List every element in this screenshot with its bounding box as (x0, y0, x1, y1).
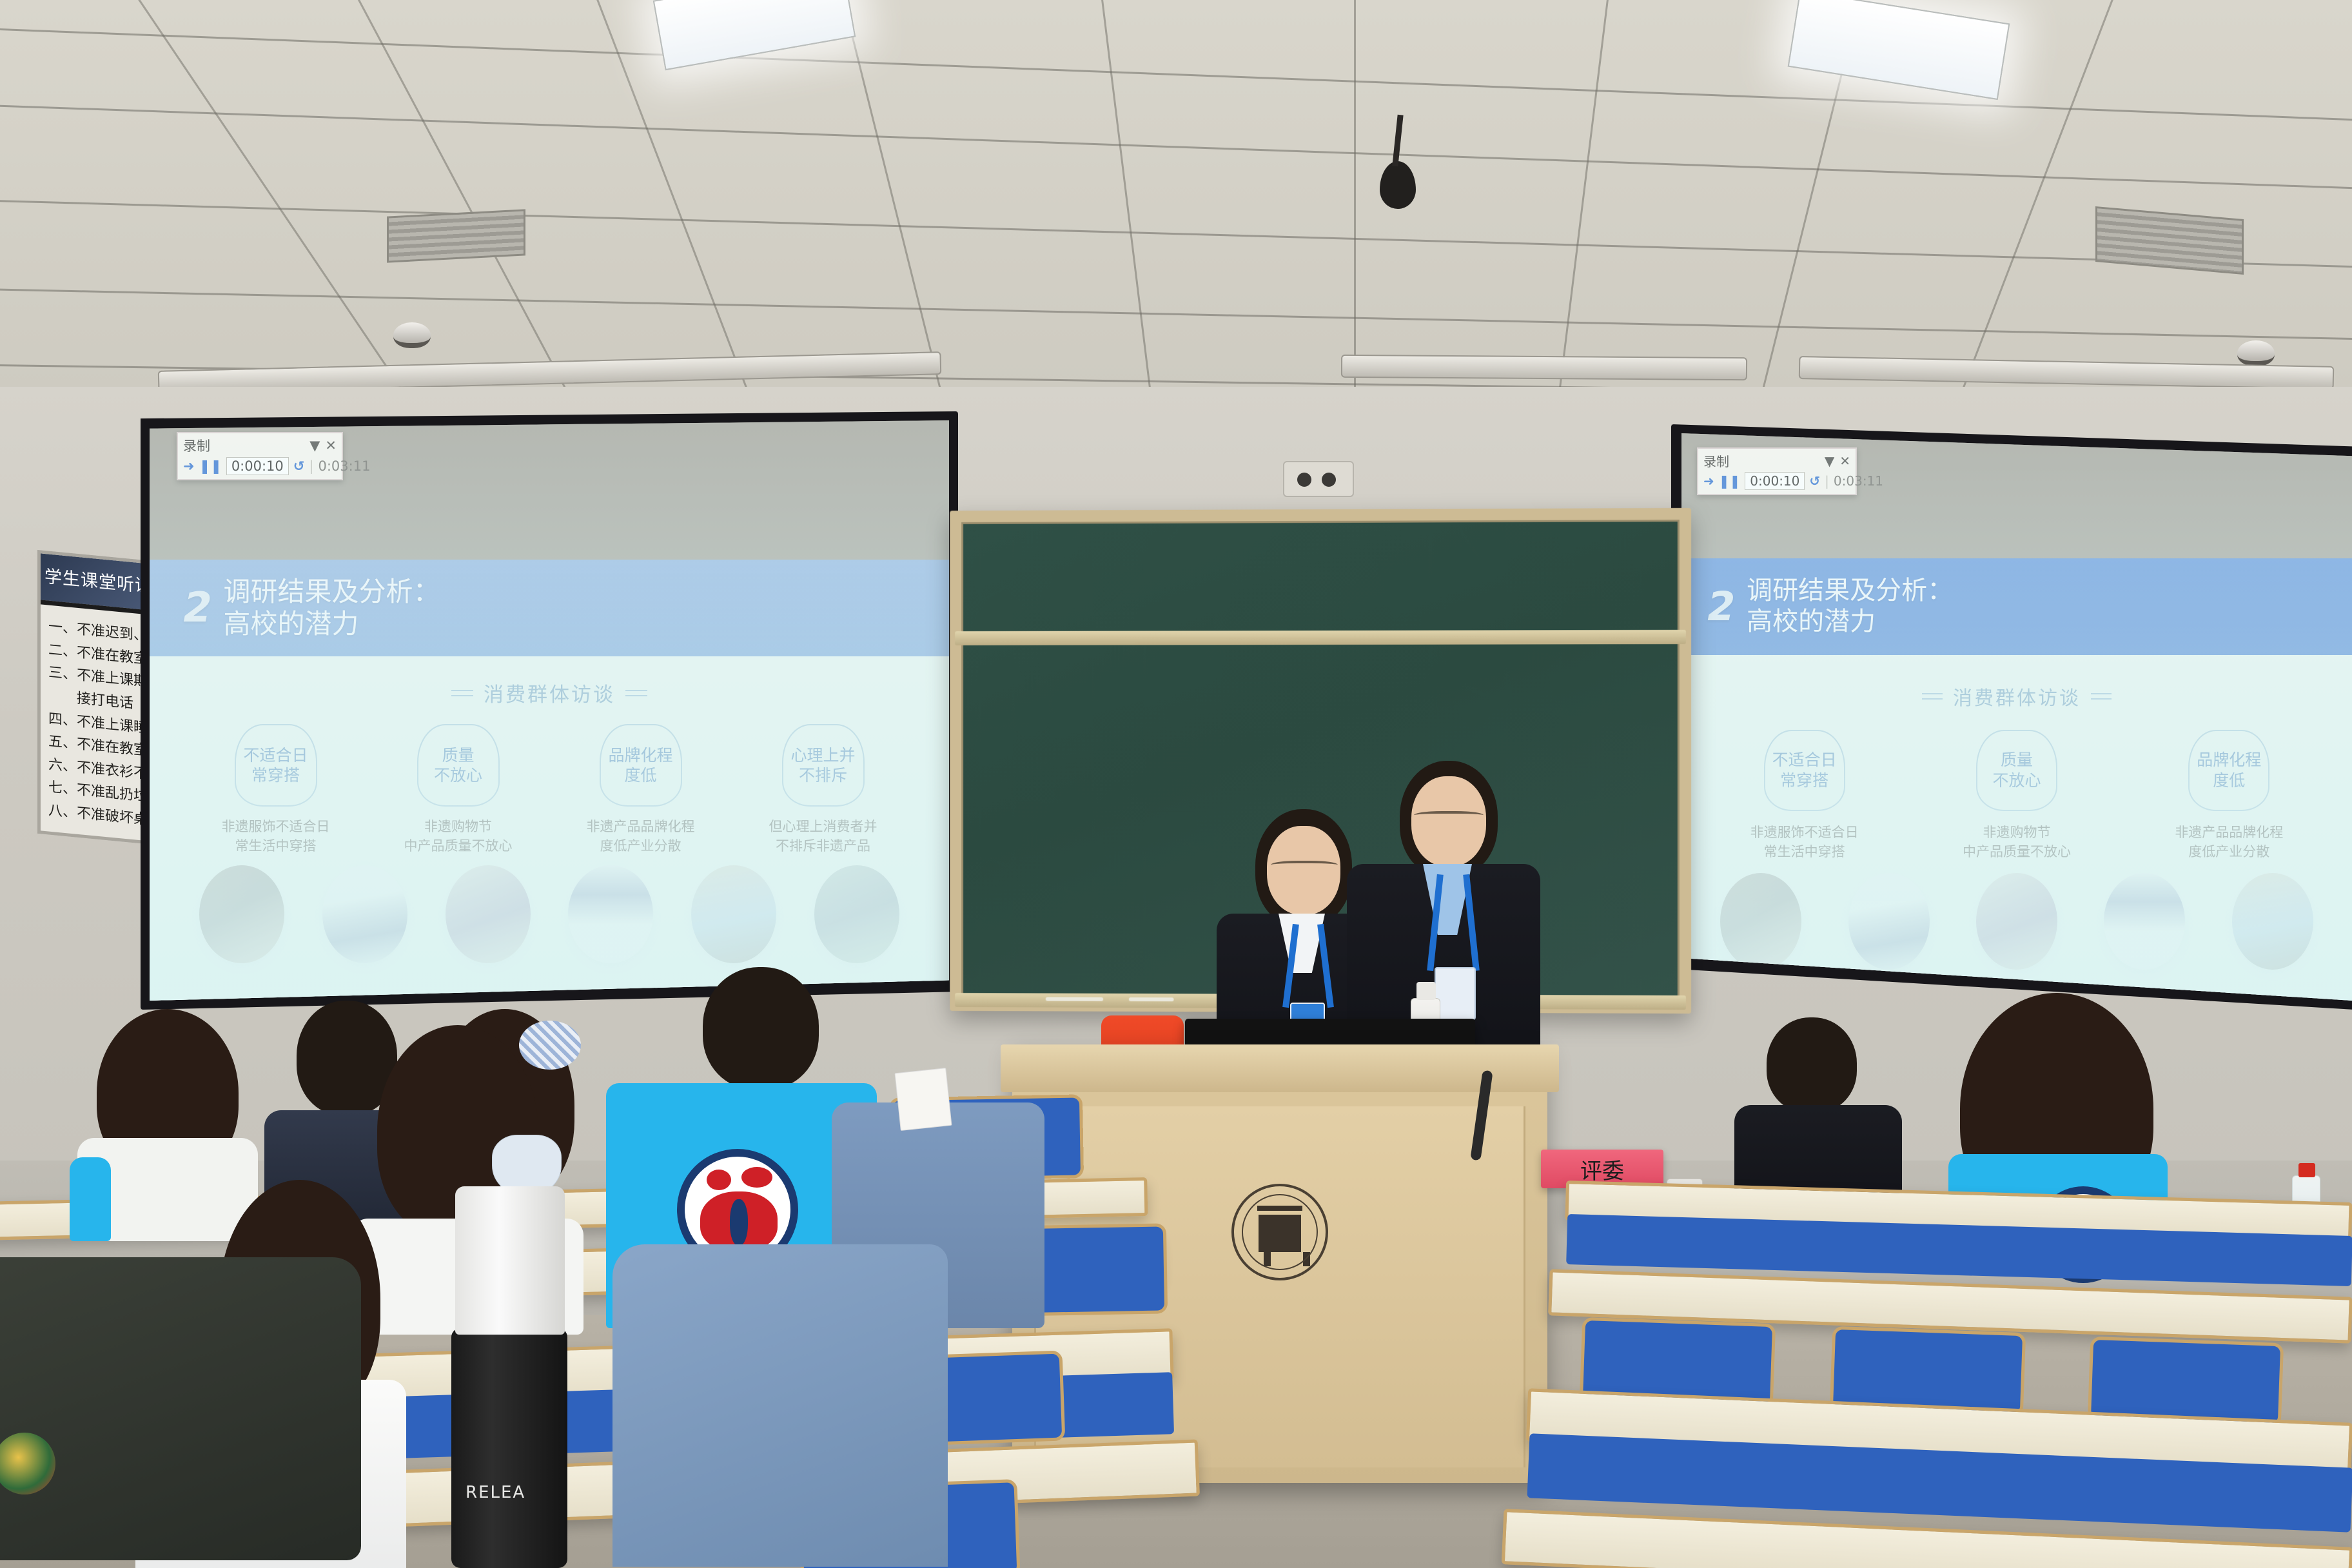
diamond-label: 品牌化程 度低 (608, 745, 672, 786)
head (1767, 1017, 1857, 1113)
ceiling (0, 0, 2352, 426)
diamond-card: 品牌化程 度低 非遗产品品牌化程 度低产业分散 (570, 724, 712, 856)
toolbar-divider: | (1825, 473, 1829, 489)
ding-vessel-icon (1259, 1215, 1301, 1252)
ceiling-light-right (1788, 0, 2010, 100)
diamond-shape: 品牌化程 度低 (600, 724, 682, 807)
slide-title-line-1: 调研结果及分析： (1747, 576, 1953, 605)
photo-row (150, 865, 949, 963)
slide-title-band: 2 调研结果及分析： 高校的潜力 (150, 560, 949, 656)
diamond-label: 不适合日 常穿搭 (243, 745, 308, 786)
diamond-subtext-line-2: 度低产业分散 (2188, 844, 2269, 859)
wall-speaker-plate (1283, 461, 1354, 497)
diamond-label-line-1: 质量 (442, 746, 474, 765)
close-icon[interactable]: ✕ (1839, 453, 1850, 469)
diamond-card: 不适合日 常穿搭 非遗服饰不适合日 常生活中穿搭 (1737, 730, 1872, 862)
decorative-dash-right (2091, 693, 2112, 700)
face (1411, 776, 1486, 867)
recording-toolbar-title: 录制 (1703, 451, 1729, 470)
slide-photo (446, 865, 531, 963)
diamond-label-line-1: 心理上并 (790, 746, 855, 765)
diamond-subtext-line-1: 非遗购物节 (424, 819, 492, 834)
diamond-shape: 心理上并 不排斥 (782, 724, 865, 807)
projector-screen-left: 录制 ▼ ✕ ➜ ❚❚ 0:00:10 ↺ | 0:03:11 2 调研结果及分… (150, 420, 949, 1001)
dome-camera-right (2237, 340, 2275, 366)
recording-total-time: 0:03:11 (318, 458, 370, 474)
screen-mount-rail-mid (1341, 355, 1747, 380)
chalk-piece[interactable] (1129, 997, 1174, 1001)
pause-icon[interactable]: ❚❚ (1719, 473, 1741, 489)
diamond-shape: 品牌化程 度低 (2188, 730, 2269, 811)
diamond-shape: 不适合日 常穿搭 (235, 724, 317, 807)
slide-right: 2 调研结果及分析： 高校的潜力 消费群体访谈 不适合日 (1681, 558, 2352, 1001)
diamond-card: 品牌化程 度低 非遗产品品牌化程 度低产业分散 (2161, 730, 2297, 862)
recording-toolbar-right[interactable]: 录制 ▼ ✕ ➜ ❚❚ 0:00:10 ↺ | 0:03:11 (1697, 447, 1857, 495)
diamond-shape: 质量 不放心 (1976, 730, 2057, 811)
diamond-label-line-1: 不适合日 (243, 746, 308, 765)
slide-photo (322, 865, 407, 963)
diamond-label: 不适合日 常穿搭 (1772, 750, 1837, 790)
thermos-bottle[interactable] (451, 1328, 567, 1568)
projector-screen-right: 录制 ▼ ✕ ➜ ❚❚ 0:00:10 ↺ | 0:03:11 2 调研结果及分… (1681, 433, 2352, 1001)
slide-title-line-2: 高校的潜力 (1747, 607, 1876, 636)
student-row3-front-right (612, 1244, 948, 1567)
printed-handout[interactable] (895, 1068, 952, 1131)
diamond-card: 不适合日 常穿搭 非遗服饰不适合日 常生活中穿搭 (205, 724, 347, 856)
thermos-cap[interactable] (455, 1186, 565, 1335)
recording-elapsed-time: 0:00:10 (226, 457, 289, 475)
diamond-subtext-line-1: 但心理上消费者并 (769, 819, 877, 834)
logo-red-dot-left (707, 1170, 731, 1190)
vest (70, 1157, 111, 1241)
slide-photo (814, 865, 899, 963)
diamond-label-line-1: 不适合日 (1772, 750, 1837, 769)
decorative-dash-right (625, 690, 647, 696)
diamond-row: 不适合日 常穿搭 非遗服饰不适合日 常生活中穿搭 质量 (1681, 730, 2352, 862)
slide-title-band: 2 调研结果及分析： 高校的潜力 (1681, 558, 2352, 655)
diamond-label-line-2: 常穿搭 (251, 766, 300, 785)
slide-content-left: 消费群体访谈 不适合日 常穿搭 非遗服饰不适合日 常生活中穿 (150, 656, 949, 1001)
diamond-subtext-line-2: 中产品质量不放心 (1963, 844, 2071, 859)
air-vent-right (2095, 206, 2244, 275)
glasses-icon (1414, 811, 1484, 821)
recording-elapsed-time: 0:00:10 (1745, 472, 1805, 490)
diamond-subtext: 但心理上消费者并 不排斥非遗产品 (752, 817, 894, 856)
diamond-shape: 质量 不放心 (417, 724, 500, 807)
head (703, 967, 819, 1090)
recording-toolbar-title: 录制 (183, 436, 210, 455)
diamond-label: 品牌化程 度低 (2197, 750, 2261, 790)
wall-speaker-hole-1 (1297, 473, 1311, 487)
section-heading: 消费群体访谈 (150, 678, 949, 707)
slide-step-number: 2 (179, 584, 217, 632)
decorative-dash-left (451, 690, 473, 696)
undo-arrow-icon[interactable]: ↺ (293, 458, 305, 474)
page-title: 调研结果及分析： 高校的潜力 (1747, 576, 1953, 636)
glasses-icon (1271, 861, 1338, 871)
toolbar-divider: | (309, 458, 313, 474)
slide-photo (1720, 873, 1801, 970)
slide-photo (2232, 873, 2313, 970)
diamond-label-line-2: 常穿搭 (1780, 771, 1828, 790)
diamond-subtext-line-2: 中产品质量不放心 (404, 838, 513, 854)
slide-title-line-1: 调研结果及分析： (224, 576, 440, 607)
page-title: 调研结果及分析： 高校的潜力 (224, 576, 440, 640)
decorative-dash-left (1922, 693, 1943, 700)
diamond-row: 不适合日 常穿搭 非遗服饰不适合日 常生活中穿搭 质量 (150, 724, 949, 856)
diamond-label-line-2: 不放心 (434, 766, 482, 785)
slide-left: 2 调研结果及分析： 高校的潜力 消费群体访谈 不适合日 (150, 560, 949, 1001)
diamond-subtext-line-1: 非遗产品品牌化程 (2175, 825, 2283, 840)
wall-speaker-hole-2 (1322, 473, 1336, 487)
diamond-subtext-line-1: 非遗购物节 (1983, 825, 2050, 840)
diamond-subtext-line-2: 常生活中穿搭 (1764, 844, 1845, 859)
slide-photo (691, 865, 776, 963)
diamond-subtext-line-2: 不排斥非遗产品 (776, 838, 870, 854)
diamond-card: 心理上并 不排斥 但心理上消费者并 不排斥非遗产品 (752, 724, 894, 856)
ceiling-microphone (1380, 161, 1416, 209)
section-heading: 消费群体访谈 (1681, 682, 2352, 710)
diamond-label-line-2: 度低 (2213, 771, 2245, 790)
recording-total-time: 0:03:11 (1834, 473, 1883, 489)
diamond-shape: 不适合日 常穿搭 (1764, 730, 1845, 811)
diamond-subtext: 非遗购物节 中产品质量不放心 (387, 817, 529, 856)
diamond-subtext-line-2: 度低产业分散 (600, 838, 681, 854)
section-heading-text: 消费群体访谈 (1953, 682, 2081, 710)
arrow-right-icon[interactable]: ➜ (183, 458, 195, 474)
poster-rule-list: 一、不准迟到、早退 二、不准在教室中 三、不准上课期间 接打电话 四、不准上课睡… (41, 604, 157, 836)
chevron-down-icon[interactable]: ▼ (309, 438, 320, 453)
university-crest (1231, 1184, 1328, 1280)
diamond-subtext-line-1: 非遗产品品牌化程 (587, 819, 695, 834)
lectern-top-surface (1001, 1044, 1559, 1092)
diamond-card: 质量 不放心 非遗购物节 中产品质量不放心 (1949, 730, 2084, 862)
torso (612, 1244, 948, 1567)
slide-photo (1976, 873, 2057, 970)
blackboard-ledge-top (955, 630, 1686, 645)
diamond-label: 心理上并 不排斥 (790, 745, 855, 786)
logo-red-dot-right (741, 1167, 772, 1188)
backpack-patch (0, 1433, 55, 1494)
slide-step-number: 2 (1703, 583, 1739, 630)
judge-placard-text: 评委 (1580, 1153, 1624, 1185)
diamond-label-line-1: 质量 (2001, 750, 2033, 769)
diamond-label-line-1: 品牌化程 (608, 746, 672, 765)
diamond-label-line-1: 品牌化程 (2197, 750, 2261, 769)
diamond-subtext: 非遗产品品牌化程 度低产业分散 (570, 817, 712, 856)
slide-photo (2104, 873, 2185, 970)
diamond-label-line-2: 度低 (624, 766, 656, 785)
diamond-label-line-2: 不放心 (1992, 771, 2041, 790)
undo-arrow-icon[interactable]: ↺ (1809, 473, 1820, 489)
slide-content-right: 消费群体访谈 不适合日 常穿搭 非遗服饰不适合日 常生活中穿 (1681, 655, 2352, 997)
id-badge (1435, 967, 1476, 1020)
recording-toolbar-left[interactable]: 录制 ▼ ✕ ➜ ❚❚ 0:00:10 ↺ | 0:03:11 (177, 432, 343, 480)
diamond-subtext: 非遗服饰不适合日 常生活中穿搭 (1737, 823, 1872, 862)
diamond-card: 质量 不放心 非遗购物节 中产品质量不放心 (387, 724, 529, 856)
photo-row (1681, 873, 2352, 970)
section-heading-text: 消费群体访谈 (484, 678, 615, 707)
chevron-down-icon[interactable]: ▼ (1825, 453, 1834, 469)
slide-photo (199, 865, 284, 963)
air-vent-left (387, 209, 525, 262)
diamond-subtext-line-1: 非遗服饰不适合日 (222, 819, 330, 834)
student-row1-left (77, 1009, 258, 1222)
diamond-label: 质量 不放心 (434, 745, 482, 786)
diamond-subtext: 非遗购物节 中产品质量不放心 (1949, 823, 2084, 862)
classroom-scene: 学生课堂听课 一、不准迟到、早退 二、不准在教室中 三、不准上课期间 接打电话 … (0, 0, 2352, 1568)
chalk-piece[interactable] (1046, 997, 1103, 1001)
dome-camera-left (393, 322, 431, 348)
diamond-subtext: 非遗服饰不适合日 常生活中穿搭 (205, 817, 347, 856)
slide-photo (568, 865, 653, 963)
diamond-label: 质量 不放心 (1992, 750, 2041, 790)
close-icon[interactable]: ✕ (325, 438, 337, 453)
diamond-subtext: 非遗产品品牌化程 度低产业分散 (2161, 823, 2297, 862)
diamond-subtext-line-2: 常生活中穿搭 (235, 838, 317, 854)
backpack[interactable] (0, 1257, 361, 1560)
diamond-subtext-line-1: 非遗服饰不适合日 (1750, 825, 1859, 840)
slide-title-line-2: 高校的潜力 (224, 608, 359, 640)
thermos-brand-label: RELEA (465, 1483, 525, 1502)
diamond-label-line-2: 不排斥 (799, 766, 847, 785)
arrow-right-icon[interactable]: ➜ (1703, 473, 1714, 489)
slide-photo (1848, 873, 1930, 970)
logo-dark-drop (730, 1199, 748, 1246)
pause-icon[interactable]: ❚❚ (199, 458, 222, 474)
